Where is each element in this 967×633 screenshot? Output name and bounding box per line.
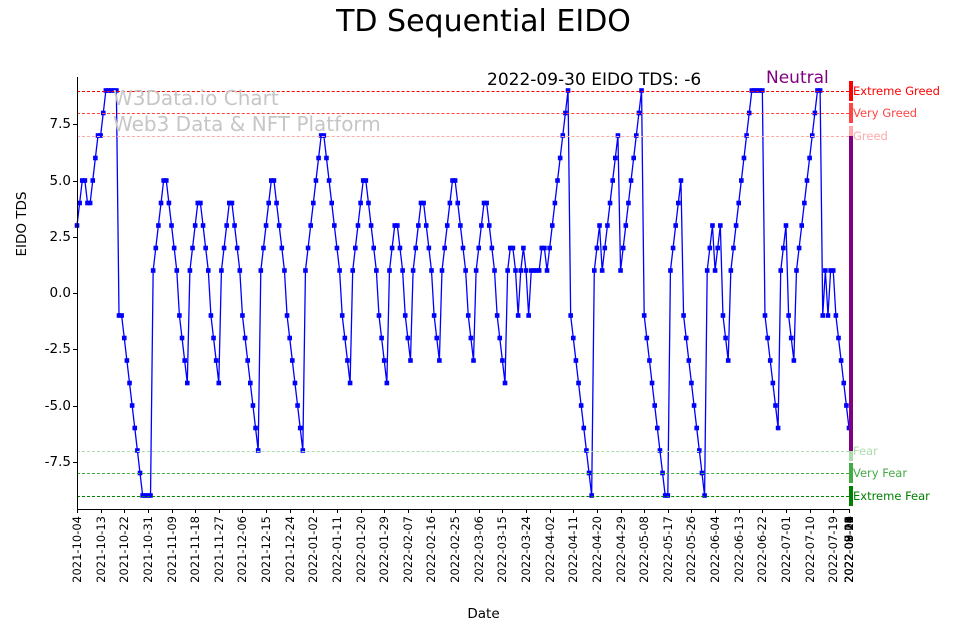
x-tick-label: 2022-04-11 bbox=[566, 516, 580, 583]
y-tick-label: 7.5 bbox=[50, 116, 71, 132]
x-tick-label: 2022-05-17 bbox=[661, 516, 675, 583]
x-tick-label: 2022-04-29 bbox=[614, 516, 628, 583]
x-tick-label: 2022-07-10 bbox=[803, 516, 817, 583]
threshold-label-extreme_greed: Extreme Greed bbox=[853, 84, 940, 98]
x-tick-label: 2022-04-02 bbox=[543, 516, 557, 583]
y-axis-line bbox=[77, 77, 78, 509]
chart-container: TD Sequential EIDO -7.5-5.0-2.50.02.55.0… bbox=[0, 0, 967, 633]
threshold-label-very_greed: Very Greed bbox=[853, 106, 917, 120]
x-tick-label: 2022-05-26 bbox=[684, 516, 698, 583]
y-tick-label: -7.5 bbox=[45, 454, 71, 470]
sentiment-colorbar bbox=[849, 136, 853, 451]
watermark-line-2: Web3 Data & NFT Platform bbox=[113, 112, 381, 136]
x-tick-mark bbox=[849, 509, 850, 513]
threshold-label-extreme_fear: Extreme Fear bbox=[853, 489, 930, 503]
x-tick-label: 2022-05-08 bbox=[637, 516, 651, 583]
y-axis-label: EIDO TDS bbox=[14, 24, 30, 424]
x-tick-label: 2022-04-20 bbox=[590, 516, 604, 583]
y-tick-label: 5.0 bbox=[50, 173, 71, 189]
x-tick-label: 2022-03-24 bbox=[519, 516, 533, 583]
threshold-swatch-very_greed bbox=[849, 103, 853, 123]
x-tick-label: 2021-12-15 bbox=[259, 516, 273, 583]
x-tick-label: 2022-09-29 bbox=[842, 516, 856, 583]
threshold-line-extreme_fear bbox=[77, 496, 849, 497]
y-tick-label: -2.5 bbox=[45, 341, 71, 357]
x-tick-label: 2021-10-04 bbox=[70, 516, 84, 583]
series-line bbox=[77, 91, 849, 496]
sentiment-annotation: Neutral bbox=[766, 68, 829, 88]
x-tick-label: 2022-01-02 bbox=[306, 516, 320, 583]
x-axis-line bbox=[77, 509, 849, 510]
eido-tds-line-series bbox=[77, 77, 849, 509]
y-tick-label: 0.0 bbox=[50, 285, 71, 301]
latest-value-annotation: 2022-09-30 EIDO TDS: -6 bbox=[487, 70, 701, 90]
x-tick-label: 2022-02-16 bbox=[424, 516, 438, 583]
x-tick-label: 2022-03-15 bbox=[495, 516, 509, 583]
plot-area: -7.5-5.0-2.50.02.55.07.52021-10-042021-1… bbox=[77, 77, 849, 509]
x-tick-label: 2022-01-11 bbox=[330, 516, 344, 583]
y-tick-label: -5.0 bbox=[45, 398, 71, 414]
threshold-label-very_fear: Very Fear bbox=[853, 466, 907, 480]
x-tick-label: 2022-01-29 bbox=[377, 516, 391, 583]
x-tick-label: 2021-12-06 bbox=[235, 516, 249, 583]
x-tick-label: 2022-03-06 bbox=[472, 516, 486, 583]
x-tick-label: 2021-11-27 bbox=[212, 516, 226, 583]
x-tick-label: 2022-07-01 bbox=[779, 516, 793, 583]
x-tick-label: 2021-12-24 bbox=[283, 516, 297, 583]
x-axis-label: Date bbox=[0, 606, 967, 622]
x-tick-label: 2021-11-18 bbox=[188, 516, 202, 583]
x-tick-label: 2022-02-07 bbox=[401, 516, 415, 583]
x-tick-label: 2022-02-25 bbox=[448, 516, 462, 583]
watermark-line-1: W3Data.io Chart bbox=[113, 86, 279, 110]
threshold-swatch-very_fear bbox=[849, 463, 853, 483]
x-tick-label: 2022-01-20 bbox=[354, 516, 368, 583]
x-tick-label: 2022-06-22 bbox=[755, 516, 769, 583]
threshold-label-fear: Fear bbox=[853, 444, 878, 458]
chart-title: TD Sequential EIDO bbox=[0, 4, 967, 39]
x-tick-label: 2022-07-19 bbox=[826, 516, 840, 583]
x-tick-label: 2021-10-31 bbox=[141, 516, 155, 583]
threshold-line-fear bbox=[77, 451, 849, 452]
y-tick-label: 2.5 bbox=[50, 229, 71, 245]
threshold-label-greed: Greed bbox=[853, 129, 888, 143]
threshold-swatch-extreme_fear bbox=[849, 486, 853, 506]
x-tick-label: 2021-10-22 bbox=[117, 516, 131, 583]
threshold-line-very_fear bbox=[77, 473, 849, 474]
x-tick-label: 2022-06-04 bbox=[708, 516, 722, 583]
x-tick-label: 2022-06-13 bbox=[732, 516, 746, 583]
x-tick-label: 2021-11-09 bbox=[165, 516, 179, 583]
threshold-swatch-extreme_greed bbox=[849, 81, 853, 101]
x-tick-label: 2021-10-13 bbox=[94, 516, 108, 583]
series-markers bbox=[75, 88, 852, 498]
